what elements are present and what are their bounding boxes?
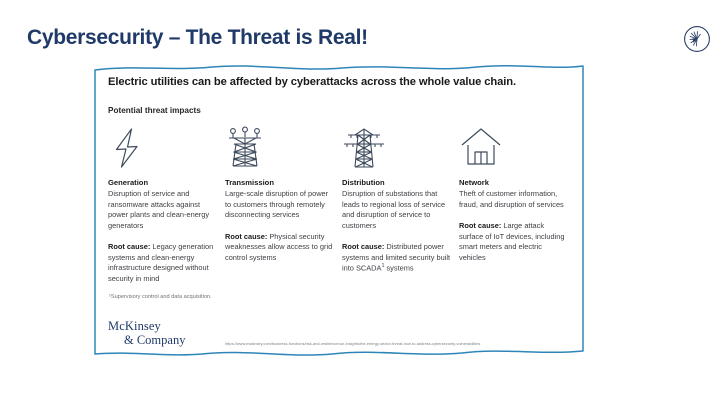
column-description: Theft of customer information, fraud, an… (459, 189, 570, 210)
column-description: Disruption of service and ransomware att… (108, 189, 219, 231)
column-root-cause: Root cause: Physical security weaknesses… (225, 232, 336, 264)
root-cause-label: Root cause: (459, 221, 501, 230)
slide-root: Cybersecurity – The Threat is Real! (0, 0, 720, 405)
source-url[interactable]: https://www.mckinsey.com/business-functi… (225, 341, 480, 346)
root-cause-label: Root cause: (342, 242, 384, 251)
page-title: Cybersecurity – The Threat is Real! (27, 26, 368, 50)
column-title: Network (459, 178, 570, 187)
column-description: Large-scale disruption of power to custo… (225, 189, 336, 221)
column-root-cause: Root cause: Large attack surface of IoT … (459, 221, 570, 263)
card-subheading: Potential threat impacts (108, 106, 570, 115)
threat-columns: Generation Disruption of service and ran… (108, 124, 570, 284)
mckinsey-logo: McKinsey & Company (108, 320, 185, 347)
threat-column-network: Network Theft of customer information, f… (459, 124, 570, 284)
card-footnote: ¹Supervisory control and data acquisitio… (109, 294, 212, 300)
threat-column-transmission: Transmission Large-scale disruption of p… (225, 124, 336, 284)
lightning-bolt-icon (108, 124, 219, 170)
footer-bar: KW KAI WAEHNER kai-waehner.de - @KaiWaeh… (0, 365, 720, 405)
starburst-circle-logo (683, 25, 711, 53)
root-cause-tail: systems (384, 264, 413, 273)
mckinsey-logo-line1: McKinsey (108, 320, 185, 334)
root-cause-label: Root cause: (225, 232, 267, 241)
threat-column-distribution: Distribution Disruption of substations t… (342, 124, 453, 284)
threat-column-generation: Generation Disruption of service and ran… (108, 124, 219, 284)
transmission-tower-icon (225, 124, 336, 170)
pylon-icon (342, 124, 453, 170)
column-title: Transmission (225, 178, 336, 187)
column-title: Distribution (342, 178, 453, 187)
root-cause-label: Root cause: (108, 242, 150, 251)
column-root-cause: Root cause: Legacy generation systems an… (108, 242, 219, 284)
column-root-cause: Root cause: Distributed power systems an… (342, 242, 453, 274)
threat-impact-card: Electric utilities can be affected by cy… (92, 62, 586, 356)
mckinsey-logo-line2: & Company (108, 334, 185, 348)
card-headline: Electric utilities can be affected by cy… (108, 76, 570, 88)
column-title: Generation (108, 178, 219, 187)
house-icon (459, 124, 570, 170)
column-description: Disruption of substations that leads to … (342, 189, 453, 231)
